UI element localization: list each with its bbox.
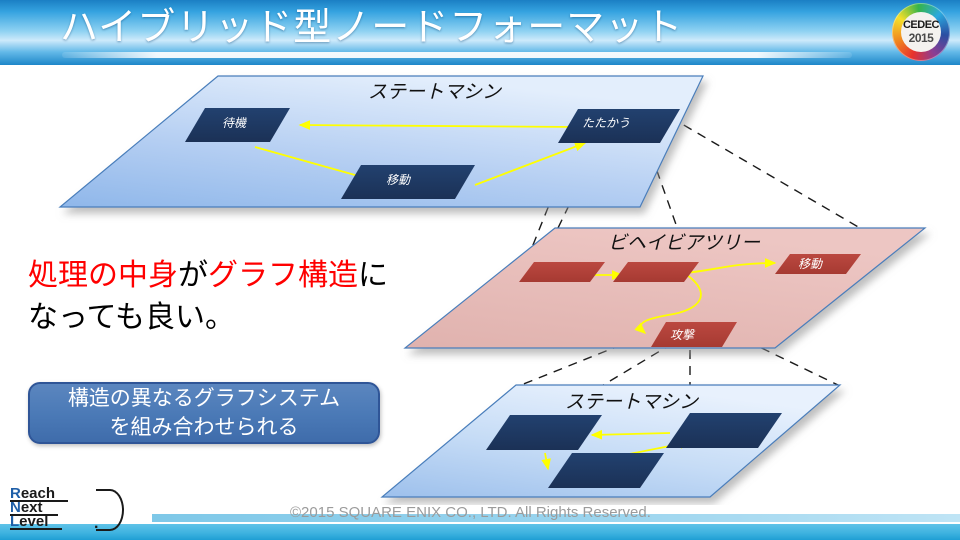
plane-middle-behavior-tree[interactable]: ビヘイビアツリー 移動 [405,228,925,348]
node-idou[interactable]: 移動 [341,165,475,199]
lead-plain-2: に [358,259,388,292]
node-label: 移動 [798,257,824,271]
node-label: 待機 [222,116,248,130]
node-label: たたかう [582,116,630,130]
copyright-text: ©2015 SQUARE ENIX CO., LTD. All Rights R… [290,504,710,524]
lead-highlight-1: 処理の中身 [28,259,178,292]
callout-box[interactable]: 構造の異なるグラフシステム を組み合わせられる [28,382,380,444]
node-bt-idou[interactable]: 移動 [775,254,861,274]
rnl-bar-3 [10,528,62,530]
slide-root: ハイブリッド型ノードフォーマット CEDEC 2015 [0,0,960,540]
cedec-2015-logo: CEDEC 2015 [892,3,950,61]
lead-highlight-2: グラフ構造 [208,259,358,292]
rnl-swoosh-icon [96,489,124,531]
reach-next-level-logo: Reach Next Level . [10,487,140,531]
cedec-logo-top-text: CEDEC [903,20,939,31]
node-tatakau[interactable]: たたかう [558,109,680,143]
plane-bottom-state-machine[interactable]: ステートマシン [382,385,840,497]
cedec-logo-inner: CEDEC 2015 [901,12,941,52]
rnl-dot: . [94,517,98,531]
callout-text: 構造の異なるグラフシステム を組み合わせられる [68,384,340,442]
node-shape [613,262,699,282]
node-bt-kougeki[interactable]: 攻撃 [651,322,737,347]
plane-label: ステートマシン [368,82,502,103]
slide-header: ハイブリッド型ノードフォーマット CEDEC 2015 [0,0,960,65]
title-underline [62,52,852,58]
node-bt-2[interactable] [613,262,699,282]
connector-line [670,117,860,228]
node-label: 移動 [386,173,412,187]
callout-line-1: 構造の異なるグラフシステム [68,384,340,413]
lead-statement: 処理の中身がグラフ構造に なっても良い。 [28,255,408,339]
callout-line-2: を組み合わせられる [68,413,340,442]
page-title: ハイブリッド型ノードフォーマット [60,2,860,54]
lead-plain-3: なっても良い。 [28,301,235,334]
plane-label: ステートマシン [565,392,699,413]
node-bt-1[interactable] [519,262,605,282]
footer-bar [0,524,960,540]
plane-top-state-machine[interactable]: ステートマシン 待機 移動 たたかう [60,76,703,207]
node-shape [519,262,605,282]
plane-label: ビヘイビアツリー [608,233,761,254]
lead-plain-1: が [178,259,208,292]
cedec-logo-bottom-text: 2015 [909,32,934,44]
node-label: 攻撃 [670,328,696,342]
